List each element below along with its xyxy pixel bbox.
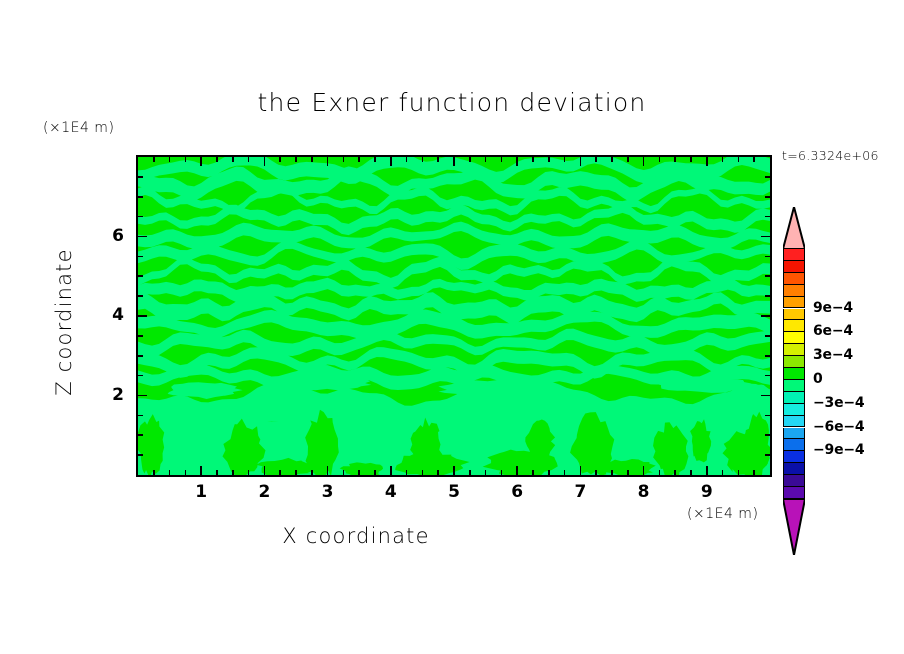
x-tick-minor: [169, 470, 171, 475]
y-tick-major: [761, 395, 770, 397]
x-tick-minor: [659, 157, 661, 162]
y-tick-minor: [138, 454, 143, 456]
x-tick-minor: [690, 470, 692, 475]
y-tick-major: [761, 236, 770, 238]
x-tick-minor: [738, 470, 740, 475]
x-tick-major: [264, 466, 266, 475]
colorbar-over-arrow: [783, 207, 805, 249]
x-tick-minor: [548, 157, 550, 162]
y-tick-minor: [138, 295, 143, 297]
x-tick-minor: [659, 470, 661, 475]
x-tick-minor: [753, 157, 755, 162]
x-tick-minor: [279, 157, 281, 162]
x-tick-minor: [564, 157, 566, 162]
colorbar-band: [783, 463, 805, 475]
x-tick-minor: [722, 470, 724, 475]
x-tick-minor: [722, 157, 724, 162]
colorbar-band: [783, 297, 805, 309]
x-tick-minor: [485, 470, 487, 475]
figure-canvas: the Exner function deviation (×1E4 m) (×…: [0, 0, 904, 654]
y-tick-major: [138, 315, 147, 317]
colorbar-band: [783, 368, 805, 380]
x-tick-minor: [343, 470, 345, 475]
x-tick-minor: [469, 470, 471, 475]
x-tick-label: 4: [371, 482, 411, 502]
y-tick-label: 2: [96, 385, 124, 405]
colorbar-tick-label: −9e−4: [813, 442, 864, 458]
x-tick-major: [327, 466, 329, 475]
x-tick-major: [390, 157, 392, 166]
x-tick-minor: [295, 470, 297, 475]
x-tick-minor: [674, 470, 676, 475]
y-tick-minor: [138, 176, 143, 178]
y-tick-minor: [765, 176, 770, 178]
x-tick-label: 2: [244, 482, 284, 502]
x-tick-minor: [437, 470, 439, 475]
x-tick-minor: [595, 470, 597, 475]
x-tick-label: 5: [434, 482, 474, 502]
x-tick-label: 1: [181, 482, 221, 502]
colorbar-band: [783, 475, 805, 487]
x-tick-minor: [738, 157, 740, 162]
y-tick-minor: [765, 256, 770, 258]
colorbar-band: [783, 273, 805, 285]
colorbar-band: [783, 332, 805, 344]
x-tick-major: [516, 466, 518, 475]
y-tick-minor: [138, 375, 143, 377]
colorbar-band: [783, 439, 805, 451]
colorbar-tick-label: 0: [813, 371, 823, 387]
x-tick-label: 8: [624, 482, 664, 502]
y-tick-minor: [138, 434, 143, 436]
y-tick-minor: [765, 295, 770, 297]
x-tick-major: [327, 157, 329, 166]
contour-field: [138, 157, 770, 475]
x-tick-minor: [690, 157, 692, 162]
x-tick-minor: [548, 470, 550, 475]
x-tick-minor: [501, 157, 503, 162]
x-tick-minor: [185, 470, 187, 475]
x-tick-minor: [611, 157, 613, 162]
x-tick-minor: [753, 470, 755, 475]
x-tick-minor: [469, 157, 471, 162]
colorbar-tick-label: −6e−4: [813, 419, 864, 435]
y-tick-label: 6: [96, 226, 124, 246]
y-tick-minor: [765, 454, 770, 456]
x-tick-major: [516, 157, 518, 166]
colorbar-under-arrow: [783, 499, 805, 555]
y-axis-unit-label: (×1E4 m): [43, 120, 114, 136]
x-tick-minor: [532, 157, 534, 162]
y-tick-minor: [765, 355, 770, 357]
x-tick-major: [453, 157, 455, 166]
y-tick-minor: [138, 216, 143, 218]
page-title: the Exner function deviation: [0, 88, 904, 117]
y-axis-title: Z coordinate: [52, 222, 76, 422]
y-tick-major: [138, 395, 147, 397]
x-tick-minor: [406, 470, 408, 475]
colorbar-band: [783, 309, 805, 321]
x-tick-minor: [422, 157, 424, 162]
x-tick-minor: [611, 470, 613, 475]
x-tick-minor: [595, 157, 597, 162]
x-tick-minor: [279, 470, 281, 475]
y-tick-minor: [138, 196, 143, 198]
x-tick-minor: [343, 157, 345, 162]
x-tick-minor: [311, 157, 313, 162]
x-tick-minor: [627, 470, 629, 475]
x-tick-minor: [153, 157, 155, 162]
x-tick-major: [200, 466, 202, 475]
y-tick-minor: [765, 216, 770, 218]
x-tick-minor: [169, 157, 171, 162]
x-tick-minor: [532, 470, 534, 475]
x-tick-minor: [422, 470, 424, 475]
y-tick-minor: [138, 355, 143, 357]
x-tick-minor: [501, 470, 503, 475]
colorbar-band: [783, 380, 805, 392]
x-tick-minor: [185, 157, 187, 162]
colorbar-band: [783, 320, 805, 332]
x-tick-minor: [374, 157, 376, 162]
x-tick-minor: [358, 157, 360, 162]
x-tick-label: 6: [497, 482, 537, 502]
x-tick-minor: [248, 470, 250, 475]
x-tick-major: [706, 466, 708, 475]
x-tick-label: 7: [560, 482, 600, 502]
y-tick-minor: [138, 335, 143, 337]
x-tick-major: [264, 157, 266, 166]
x-tick-minor: [374, 470, 376, 475]
colorbar: [783, 207, 805, 520]
y-tick-minor: [765, 275, 770, 277]
x-tick-minor: [627, 157, 629, 162]
x-tick-minor: [406, 157, 408, 162]
x-tick-major: [643, 157, 645, 166]
y-tick-label: 4: [96, 305, 124, 325]
colorbar-band: [783, 285, 805, 297]
x-tick-major: [390, 466, 392, 475]
x-tick-label: 9: [687, 482, 727, 502]
x-tick-label: 3: [308, 482, 348, 502]
x-tick-minor: [437, 157, 439, 162]
x-tick-minor: [216, 157, 218, 162]
x-tick-major: [706, 157, 708, 166]
x-tick-minor: [216, 470, 218, 475]
colorbar-tick-label: −3e−4: [813, 395, 864, 411]
x-tick-minor: [248, 157, 250, 162]
timestamp-annotation: t=6.3324e+06: [782, 148, 879, 163]
y-tick-major: [761, 315, 770, 317]
y-tick-minor: [138, 275, 143, 277]
x-axis-unit-label: (×1E4 m): [687, 506, 758, 522]
colorbar-tick-label: 9e−4: [813, 300, 853, 316]
x-tick-major: [200, 157, 202, 166]
x-tick-major: [643, 466, 645, 475]
colorbar-band: [783, 356, 805, 368]
colorbar-band: [783, 487, 805, 499]
colorbar-band: [783, 392, 805, 404]
x-tick-minor: [153, 470, 155, 475]
x-tick-minor: [485, 157, 487, 162]
colorbar-band: [783, 261, 805, 273]
colorbar-band: [783, 404, 805, 416]
x-tick-minor: [232, 470, 234, 475]
y-tick-major: [138, 236, 147, 238]
x-tick-minor: [674, 157, 676, 162]
y-tick-minor: [765, 196, 770, 198]
x-tick-minor: [311, 470, 313, 475]
y-tick-minor: [765, 375, 770, 377]
colorbar-tick-label: 3e−4: [813, 347, 853, 363]
colorbar-band: [783, 249, 805, 261]
y-tick-minor: [765, 434, 770, 436]
x-tick-major: [580, 157, 582, 166]
colorbar-band: [783, 416, 805, 428]
x-tick-minor: [232, 157, 234, 162]
x-tick-major: [580, 466, 582, 475]
colorbar-band: [783, 428, 805, 440]
x-tick-minor: [295, 157, 297, 162]
y-tick-minor: [765, 335, 770, 337]
x-axis-title: X coordinate: [0, 524, 712, 548]
y-tick-minor: [138, 415, 143, 417]
contour-plot-area: [136, 155, 772, 477]
x-tick-major: [453, 466, 455, 475]
colorbar-band: [783, 344, 805, 356]
y-tick-minor: [765, 415, 770, 417]
colorbar-band: [783, 451, 805, 463]
y-tick-minor: [138, 256, 143, 258]
colorbar-tick-label: 6e−4: [813, 323, 853, 339]
x-tick-minor: [358, 470, 360, 475]
x-tick-minor: [564, 470, 566, 475]
